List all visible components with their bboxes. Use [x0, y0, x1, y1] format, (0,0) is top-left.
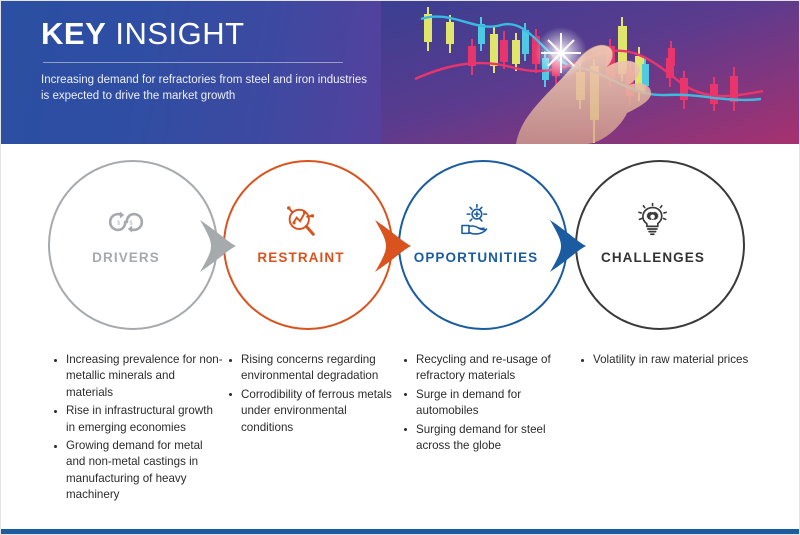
infographic-page: KEY INSIGHT Increasing demand for refrac…: [0, 0, 800, 535]
bullet-list-drivers: Increasing prevalence for non-metallic m…: [52, 352, 224, 506]
circle-challenges[interactable]: [575, 160, 745, 330]
pillar-restraint[interactable]: RESTRAINT Rising concerns regarding envi…: [201, 144, 401, 531]
list-item: Corrodibility of ferrous metals under en…: [227, 387, 399, 436]
list-item: Surging demand for steel across the glob…: [402, 422, 574, 455]
bullet-list-restraint: Rising concerns regarding environmental …: [227, 352, 399, 438]
lightbulb-gear-icon: [632, 202, 674, 242]
header-divider: [43, 62, 343, 63]
bullet-list-opportunities: Recycling and re-usage of refractory mat…: [402, 352, 574, 456]
stock-chart-artwork: [381, 1, 800, 144]
page-title: KEY INSIGHT: [41, 15, 381, 53]
footer-bar: [1, 529, 800, 534]
circle-opportunities[interactable]: [398, 160, 568, 330]
header-subtitle: Increasing demand for refractories from …: [41, 72, 371, 104]
arrow-connector-drivers: [194, 218, 240, 274]
svg-text:$: $: [117, 221, 120, 227]
pillar-challenges[interactable]: CHALLENGES Volatility in raw material pr…: [553, 144, 753, 531]
magnifier-chart-icon: [280, 202, 322, 242]
header-banner: KEY INSIGHT Increasing demand for refrac…: [1, 1, 800, 144]
header-text-block: KEY INSIGHT Increasing demand for refrac…: [41, 15, 381, 104]
page-title-light: INSIGHT: [115, 16, 244, 51]
arrow-connector-opportunities: [544, 218, 590, 274]
svg-text:$: $: [130, 221, 133, 227]
bullet-list-challenges: Volatility in raw material prices: [579, 352, 751, 370]
list-item: Surge in demand for automobiles: [402, 387, 574, 420]
recycle-arrows-icon: $$: [105, 202, 147, 242]
list-item: Volatility in raw material prices: [579, 352, 751, 368]
circle-wrap-drivers: $$ DRIVERS: [26, 158, 226, 348]
list-item: Rise in infrastructural growth in emergi…: [52, 403, 224, 436]
pillar-drivers[interactable]: $$ DRIVERS Increasing prevalence for non…: [26, 144, 226, 531]
list-item: Recycling and re-usage of refractory mat…: [402, 352, 574, 385]
list-item: Increasing prevalence for non-metallic m…: [52, 352, 224, 401]
hand-holding-idea-icon: [455, 202, 497, 242]
circle-drivers[interactable]: [48, 160, 218, 330]
arrow-connector-restraint: [369, 218, 415, 274]
list-item: Growing demand for metal and non-metal c…: [52, 438, 224, 504]
circle-restraint[interactable]: [223, 160, 393, 330]
list-item: Rising concerns regarding environmental …: [227, 352, 399, 385]
pillar-opportunities[interactable]: OPPORTUNITIES Recycling and re-usage of …: [376, 144, 576, 531]
page-title-bold: KEY: [41, 16, 106, 51]
pillars-stage: $$ DRIVERS Increasing prevalence for non…: [1, 144, 800, 531]
